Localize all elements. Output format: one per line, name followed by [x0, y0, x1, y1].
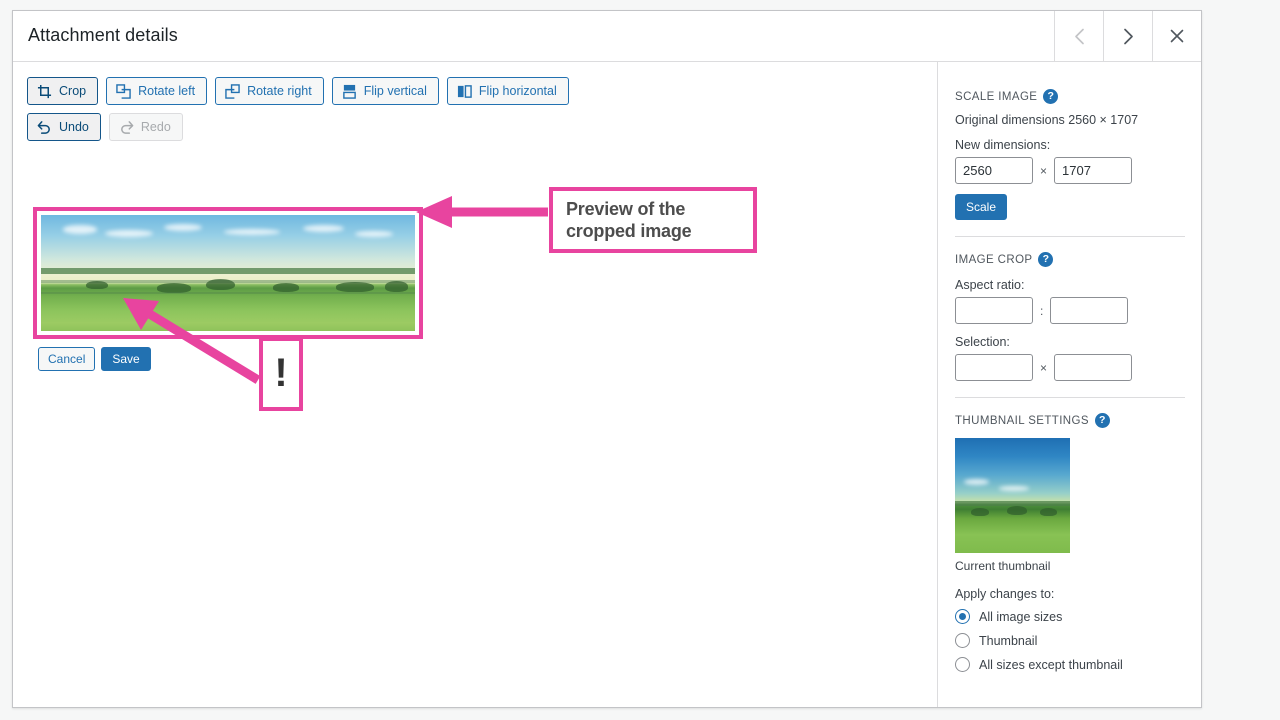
radio-all-except-thumbnail-icon[interactable] — [955, 657, 970, 672]
save-button[interactable]: Save — [101, 347, 150, 371]
thumbnail-settings-help-icon[interactable]: ? — [1095, 413, 1110, 428]
aspect-ratio-separator: : — [1040, 304, 1043, 318]
radio-thumbnail-icon[interactable] — [955, 633, 970, 648]
crop-button[interactable]: Crop — [27, 77, 98, 105]
selection-height-input[interactable] — [1054, 354, 1132, 381]
aspect-ratio-width-input[interactable] — [955, 297, 1033, 324]
scale-image-panel: SCALE IMAGE ? Original dimensions 2560 ×… — [939, 62, 1201, 220]
selection-separator: × — [1040, 361, 1047, 375]
rotate-left-button-label: Rotate left — [138, 85, 195, 98]
aspect-ratio-label: Aspect ratio: — [955, 278, 1185, 292]
aspect-ratio-inputs: : — [955, 297, 1185, 324]
cancel-button[interactable]: Cancel — [38, 347, 95, 371]
original-dimensions-text: Original dimensions 2560 × 1707 — [955, 113, 1185, 127]
new-dimensions-label: New dimensions: — [955, 138, 1185, 152]
aspect-ratio-height-input[interactable] — [1050, 297, 1128, 324]
rotate-right-button[interactable]: Rotate right — [215, 77, 324, 105]
page-title: Attachment details — [28, 25, 178, 46]
scale-image-heading: SCALE IMAGE ? — [955, 89, 1185, 104]
image-crop-heading: IMAGE CROP ? — [955, 252, 1185, 267]
redo-button[interactable]: Redo — [109, 113, 183, 141]
flip-horizontal-button-label: Flip horizontal — [479, 85, 557, 98]
selection-width-input[interactable] — [955, 354, 1033, 381]
redo-button-label: Redo — [141, 121, 171, 134]
thumbnail-settings-panel: THUMBNAIL SETTINGS ? Current thumbnail A… — [939, 398, 1201, 672]
current-thumbnail-caption: Current thumbnail — [955, 559, 1185, 573]
flip-vertical-button-label: Flip vertical — [364, 85, 427, 98]
scale-width-input[interactable] — [955, 157, 1033, 184]
radio-option-all-image-sizes[interactable]: All image sizes — [955, 609, 1185, 624]
chevron-right-icon — [1123, 28, 1134, 45]
image-crop-panel: IMAGE CROP ? Aspect ratio: : Selection: … — [939, 237, 1201, 381]
rotate-left-button[interactable]: Rotate left — [106, 77, 207, 105]
undo-icon — [37, 120, 52, 135]
crop-icon — [37, 84, 52, 99]
image-editor-pane: Crop Rotate left Rotate right — [13, 62, 938, 707]
scale-image-help-icon[interactable]: ? — [1043, 89, 1058, 104]
thumbnail-settings-heading: THUMBNAIL SETTINGS ? — [955, 413, 1185, 428]
next-attachment-button[interactable] — [1103, 11, 1152, 61]
scale-image-title: SCALE IMAGE — [955, 91, 1037, 103]
flip-horizontal-button[interactable]: Flip horizontal — [447, 77, 569, 105]
radio-thumbnail-label: Thumbnail — [979, 634, 1037, 648]
close-icon — [1170, 29, 1184, 43]
modal-nav-buttons — [1054, 11, 1201, 61]
undo-button-label: Undo — [59, 121, 89, 134]
scale-button[interactable]: Scale — [955, 194, 1007, 220]
crop-button-label: Crop — [59, 85, 86, 98]
flip-vertical-button[interactable]: Flip vertical — [332, 77, 439, 105]
rotate-right-button-label: Rotate right — [247, 85, 312, 98]
modal-header: Attachment details — [13, 11, 1201, 62]
dimension-separator: × — [1040, 164, 1047, 178]
radio-option-all-except-thumbnail[interactable]: All sizes except thumbnail — [955, 657, 1185, 672]
radio-all-except-thumbnail-label: All sizes except thumbnail — [979, 658, 1123, 672]
image-settings-pane: SCALE IMAGE ? Original dimensions 2560 ×… — [939, 62, 1201, 707]
image-crop-help-icon[interactable]: ? — [1038, 252, 1053, 267]
undo-button[interactable]: Undo — [27, 113, 101, 141]
radio-all-image-sizes-icon[interactable] — [955, 609, 970, 624]
thumbnail-settings-title: THUMBNAIL SETTINGS — [955, 415, 1089, 427]
rotate-right-icon — [225, 84, 240, 99]
previous-attachment-button[interactable] — [1054, 11, 1103, 61]
chevron-left-icon — [1074, 28, 1085, 45]
flip-vertical-icon — [342, 84, 357, 99]
selection-inputs: × — [955, 354, 1185, 381]
new-dimensions-inputs: × — [955, 157, 1185, 184]
attachment-details-modal: Attachment details — [12, 10, 1202, 708]
selection-label: Selection: — [955, 335, 1185, 349]
flip-horizontal-icon — [457, 84, 472, 99]
image-crop-title: IMAGE CROP — [955, 254, 1032, 266]
toolbar-row-transform: Crop Rotate left Rotate right — [27, 77, 907, 105]
rotate-left-icon — [116, 84, 131, 99]
redo-icon — [119, 120, 134, 135]
toolbar-row-history: Undo Redo — [27, 113, 907, 141]
scale-height-input[interactable] — [1054, 157, 1132, 184]
cropped-image-preview-frame — [33, 207, 423, 339]
close-modal-button[interactable] — [1152, 11, 1201, 61]
modal-body: Crop Rotate left Rotate right — [13, 62, 1201, 707]
radio-all-image-sizes-label: All image sizes — [979, 610, 1062, 624]
radio-option-thumbnail[interactable]: Thumbnail — [955, 633, 1185, 648]
preview-image[interactable] — [41, 215, 415, 331]
editor-action-row: Cancel Save — [38, 347, 151, 371]
current-thumbnail-image — [955, 438, 1070, 553]
image-edit-toolbar: Crop Rotate left Rotate right — [27, 77, 907, 149]
apply-changes-label: Apply changes to: — [955, 587, 1185, 601]
